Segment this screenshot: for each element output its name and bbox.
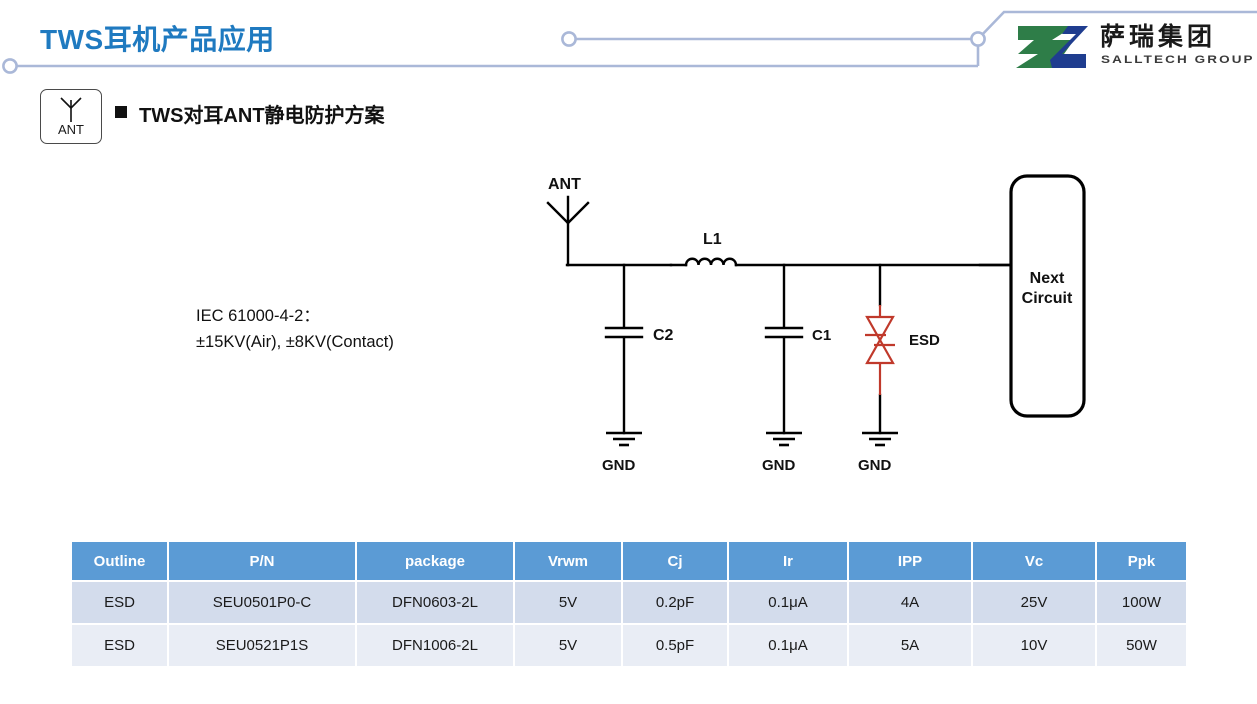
table-col-cj: Cj [622, 542, 728, 581]
section-bullet-icon [115, 106, 127, 118]
cell-pn: SEU0521P1S [168, 624, 356, 667]
ant-badge: ANT [40, 89, 102, 144]
cell-ppk: 50W [1096, 624, 1186, 667]
antenna-arm-left [548, 203, 568, 223]
esd-label: ESD [909, 332, 940, 349]
table-col-vc: Vc [972, 542, 1096, 581]
esd-diode-symbol [865, 305, 895, 395]
inductor-label: L1 [703, 231, 722, 248]
inductor-coil [686, 259, 736, 265]
cell-cj: 0.2pF [622, 581, 728, 624]
cell-vrwm: 5V [514, 624, 622, 667]
cap1-label: C1 [812, 327, 831, 344]
antenna-arm-right [568, 203, 588, 223]
slide-canvas: TWS耳机产品应用 萨瑞集团 SALLTECH GROUP ANT TWS对耳A… [0, 0, 1257, 704]
table-col-pn: P/N [168, 542, 356, 581]
logo-name-cn: 萨瑞集团 [1100, 22, 1216, 52]
cell-pn: SEU0501P0-C [168, 581, 356, 624]
table-col-ir: Ir [728, 542, 848, 581]
table-col-ipp: IPP [848, 542, 972, 581]
cell-cj: 0.5pF [622, 624, 728, 667]
cell-package: DFN1006-2L [356, 624, 514, 667]
cell-ipp: 5A [848, 624, 972, 667]
table-col-outline: Outline [72, 542, 168, 581]
next-circuit-line2: Circuit [1022, 290, 1073, 307]
ant-badge-label: ANT [41, 122, 101, 137]
table-col-package: package [356, 542, 514, 581]
cell-ir: 0.1μA [728, 581, 848, 624]
logo-mark-icon [1012, 24, 1092, 70]
company-logo: 萨瑞集团 SALLTECH GROUP [1012, 22, 1244, 74]
cell-ir: 0.1μA [728, 624, 848, 667]
cell-outline: ESD [72, 581, 168, 624]
gnd-label-esd: GND [858, 457, 892, 474]
table-col-vrwm: Vrwm [514, 542, 622, 581]
gnd-label-c1: GND [762, 457, 796, 474]
cap2-label: C2 [653, 327, 674, 344]
deco-node-mid [562, 32, 575, 45]
table-col-ppk: Ppk [1096, 542, 1186, 581]
next-circuit-line1: Next [1030, 270, 1065, 287]
section-title: TWS对耳ANT静电防护方案 [139, 99, 385, 128]
cell-vc: 10V [972, 624, 1096, 667]
cell-outline: ESD [72, 624, 168, 667]
table-row: ESD SEU0521P1S DFN1006-2L 5V 0.5pF 0.1μA… [72, 624, 1186, 667]
esd-protection-schematic: ANT L1 C2 C1 ESD GND GND GND Next Circui… [520, 165, 1110, 485]
gnd-label-c2: GND [602, 457, 636, 474]
deco-node-left [3, 59, 16, 72]
iec-spec-line2: ±15KV(Air), ±8KV(Contact) [196, 329, 394, 355]
cell-package: DFN0603-2L [356, 581, 514, 624]
antenna-label: ANT [548, 176, 581, 193]
page-title: TWS耳机产品应用 [40, 18, 275, 58]
deco-node-right [971, 32, 984, 45]
ground-symbol-c1 [766, 433, 802, 445]
cell-ppk: 100W [1096, 581, 1186, 624]
ground-symbol-c2 [606, 433, 642, 445]
cell-vc: 25V [972, 581, 1096, 624]
table-row: ESD SEU0501P0-C DFN0603-2L 5V 0.2pF 0.1μ… [72, 581, 1186, 624]
esd-triangle-upper [867, 317, 893, 340]
cell-vrwm: 5V [514, 581, 622, 624]
antenna-icon [53, 94, 89, 124]
spec-table: Outline P/N package Vrwm Cj Ir IPP Vc Pp… [72, 542, 1186, 668]
table-header-row: Outline P/N package Vrwm Cj Ir IPP Vc Pp… [72, 542, 1186, 581]
logo-name-en: SALLTECH GROUP [1101, 53, 1255, 65]
cell-ipp: 4A [848, 581, 972, 624]
iec-spec-note: IEC 61000-4-2： ±15KV(Air), ±8KV(Contact) [196, 303, 394, 355]
iec-spec-line1: IEC 61000-4-2： [196, 303, 394, 329]
ground-symbol-esd [862, 433, 898, 445]
esd-triangle-lower [867, 340, 893, 363]
